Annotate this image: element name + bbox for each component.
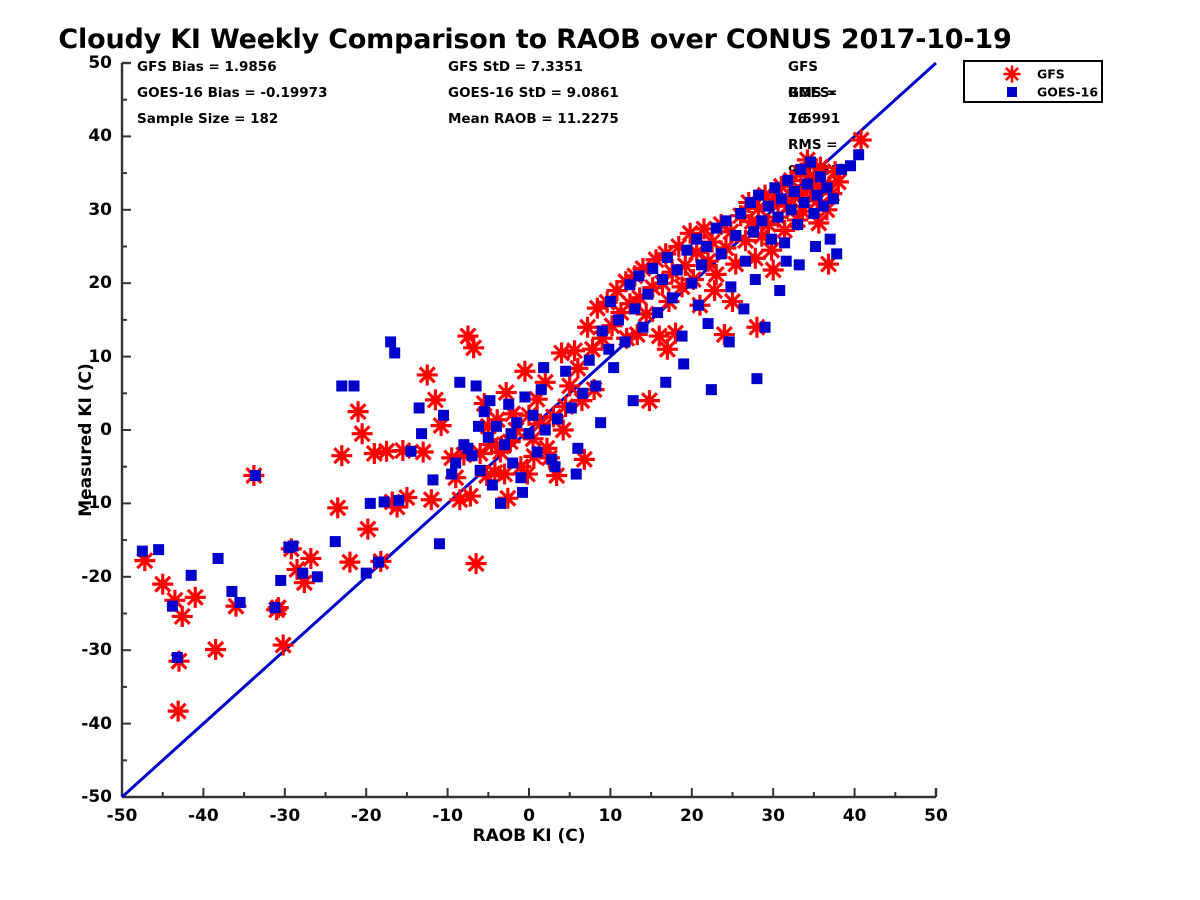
legend-entry-goes16[interactable]: GOES-16 xyxy=(965,81,1101,102)
y-tick--10: -10 xyxy=(44,493,112,513)
asterisk-icon xyxy=(1003,65,1021,83)
y-tick--40: -40 xyxy=(44,714,112,734)
y-tick--30: -30 xyxy=(44,640,112,660)
chart-figure: Cloudy KI Weekly Comparison to RAOB over… xyxy=(0,0,1200,900)
x-axis-label: RAOB KI (C) xyxy=(122,826,936,846)
legend-label-gfs: GFS xyxy=(1037,66,1065,81)
x-tick-30: 30 xyxy=(761,806,785,826)
legend[interactable]: GFS GOES-16 xyxy=(963,60,1103,103)
scatter-plot-canvas xyxy=(0,0,1200,900)
x-tick--20: -20 xyxy=(351,806,382,826)
x-tick--50: -50 xyxy=(107,806,138,826)
x-tick--10: -10 xyxy=(432,806,463,826)
x-tick-40: 40 xyxy=(843,806,867,826)
x-tick-50: 50 xyxy=(924,806,948,826)
x-tick--40: -40 xyxy=(188,806,219,826)
square-icon xyxy=(1003,83,1021,101)
y-tick-50: 50 xyxy=(44,53,112,73)
y-tick-0: 0 xyxy=(44,420,112,440)
legend-label-goes16: GOES-16 xyxy=(1037,84,1098,99)
y-tick-20: 20 xyxy=(44,273,112,293)
y-tick-40: 40 xyxy=(44,126,112,146)
x-tick-0: 0 xyxy=(523,806,535,826)
x-tick-10: 10 xyxy=(599,806,623,826)
y-tick--20: -20 xyxy=(44,567,112,587)
y-tick-30: 30 xyxy=(44,200,112,220)
x-tick-20: 20 xyxy=(680,806,704,826)
y-tick--50: -50 xyxy=(44,787,112,807)
x-tick--30: -30 xyxy=(269,806,300,826)
y-tick-10: 10 xyxy=(44,347,112,367)
